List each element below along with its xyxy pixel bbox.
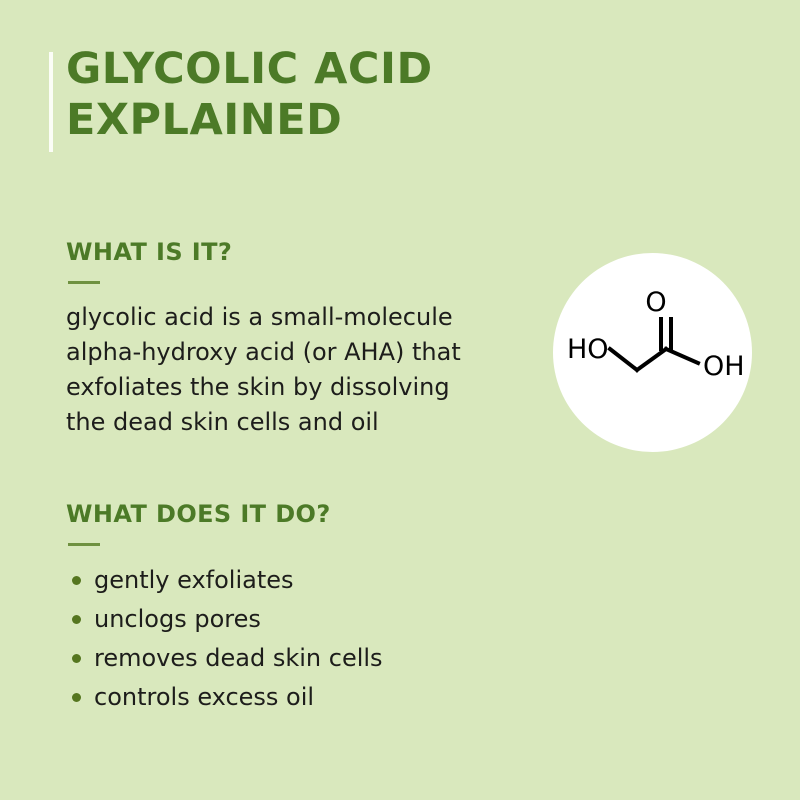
bullet-dot-icon [72,576,81,585]
heading-rule-what-is-it [68,281,100,284]
list-item: gently exfoliates [66,562,486,598]
molecule-label-carbonyl-oxygen: O [645,287,666,318]
molecule-label-carboxyl-hydroxyl: OH [703,351,745,382]
bullet-dot-icon [72,693,81,702]
list-item: controls excess oil [66,679,486,715]
list-item-label: controls excess oil [94,683,314,711]
bullet-dot-icon [72,615,81,624]
title-accent-bar [49,52,53,152]
list-item: unclogs pores [66,601,486,637]
page-title: GLYCOLIC ACID EXPLAINED [66,44,566,146]
list-item-label: unclogs pores [94,605,261,633]
molecule-badge: HO O OH [553,253,752,452]
list-item: removes dead skin cells [66,640,486,676]
section-heading-what-does-it-do: WHAT DOES IT DO? [66,500,331,528]
glycolic-acid-molecule-icon: HO O OH [553,253,752,452]
infographic-page: GLYCOLIC ACID EXPLAINED WHAT IS IT? glyc… [0,0,800,800]
what-is-it-body-text: glycolic acid is a small-molecule alpha-… [66,300,518,440]
benefits-list: gently exfoliates unclogs pores removes … [66,562,486,718]
molecule-label-hydroxyl-left: HO [567,334,609,365]
list-item-label: removes dead skin cells [94,644,383,672]
section-heading-what-is-it: WHAT IS IT? [66,238,232,266]
heading-rule-what-does-it-do [68,543,100,546]
list-item-label: gently exfoliates [94,566,294,594]
title-block: GLYCOLIC ACID EXPLAINED [49,48,569,156]
bullet-dot-icon [72,654,81,663]
